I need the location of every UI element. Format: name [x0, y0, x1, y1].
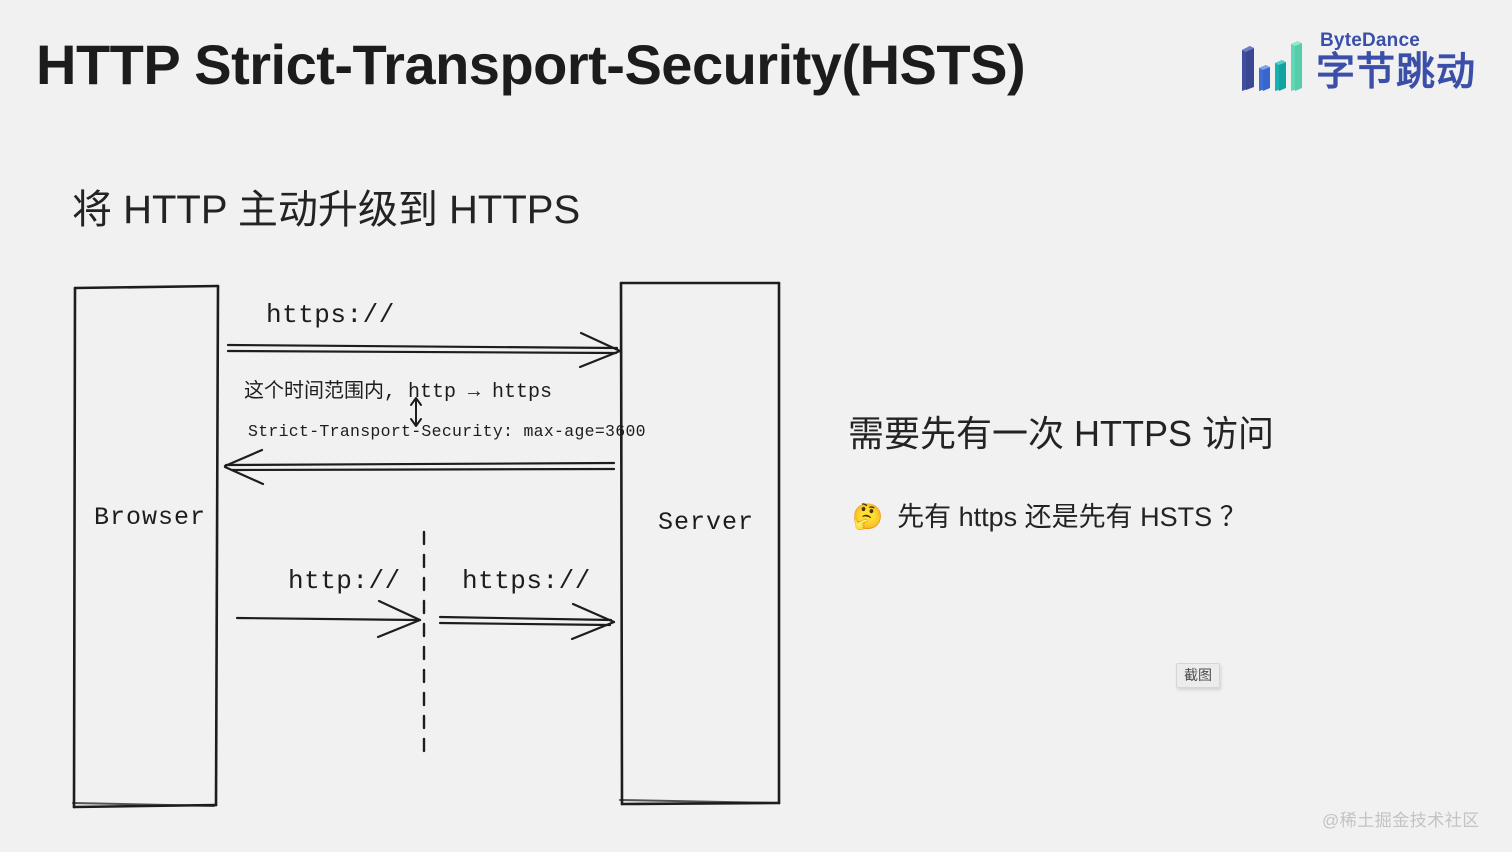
right-question-row: 🤔 先有 https 还是先有 HSTS ？: [852, 500, 1247, 534]
server-box-label: Server: [658, 508, 754, 537]
arrow-https-bottom: [440, 604, 614, 639]
right-heading: 需要先有一次 HTTPS 访问: [848, 411, 1274, 457]
label-https-request: https://: [266, 300, 395, 330]
watermark: @稀土掘金技术社区: [1322, 806, 1480, 831]
slide-canvas: HTTP Strict-Transport-Security(HSTS) Byt…: [0, 0, 1512, 852]
label-http-bottom: http://: [288, 566, 401, 596]
server-box: [621, 283, 779, 804]
bytedance-logo-cn: 字节跳动: [1316, 50, 1476, 96]
arrow-https-request: [228, 333, 620, 367]
arrow-hsts-response: [225, 450, 614, 484]
sequence-diagram: [0, 0, 1512, 852]
label-time-range: 这个时间范围内, http → https: [244, 374, 552, 404]
page-title: HTTP Strict-Transport-Security(HSTS): [36, 32, 1025, 98]
bytedance-logo-en: ByteDance: [1320, 30, 1420, 52]
label-https-bottom: https://: [462, 566, 591, 596]
section-subtitle: 将 HTTP 主动升级到 HTTPS: [72, 183, 580, 237]
bytedance-logo: ByteDance 字节跳动: [1238, 28, 1480, 102]
thinking-face-icon: 🤔: [852, 502, 883, 532]
bytedance-logo-text: ByteDance 字节跳动: [1316, 28, 1480, 102]
browser-box-label: Browser: [94, 503, 206, 532]
capture-button[interactable]: 截图: [1176, 663, 1220, 688]
browser-box: [74, 286, 218, 807]
bytedance-logo-mark: [1238, 38, 1304, 94]
arrow-http-bottom: [237, 601, 420, 637]
label-hsts-header: Strict-Transport-Security: max-age=3600: [248, 422, 646, 441]
right-question-text: 先有 https 还是先有 HSTS ？: [897, 500, 1247, 534]
